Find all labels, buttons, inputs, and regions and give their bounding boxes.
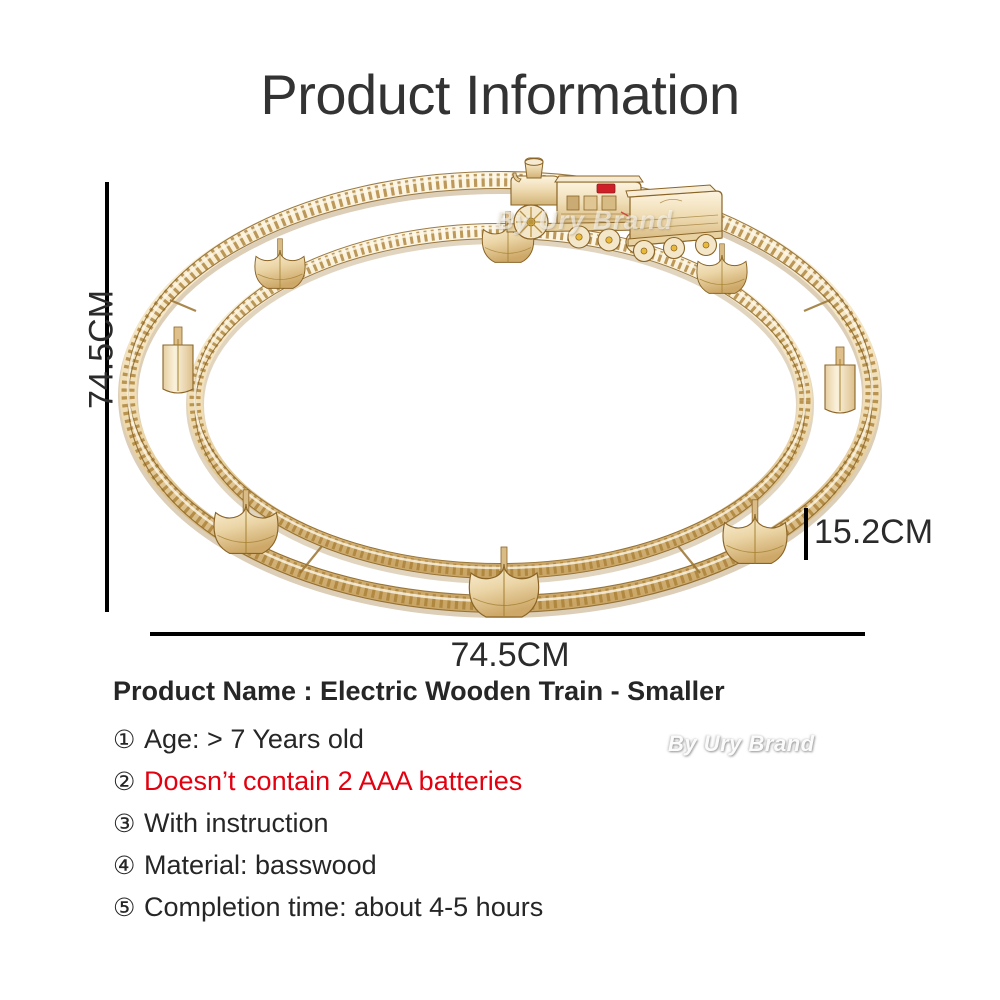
spec-item-material: ④ Material: basswood: [113, 850, 933, 881]
spec-marker-3: ③: [113, 809, 144, 839]
wooden-train-track-illustration: [0, 130, 1000, 650]
product-illustration: [0, 130, 1000, 650]
spec-item-instruction: ③ With instruction: [113, 808, 933, 839]
track-pedestal-icon: [825, 347, 855, 413]
track-pedestal-icon: [469, 547, 538, 617]
product-information-page: Product Information: [0, 0, 1000, 1000]
spec-marker-4: ④: [113, 851, 144, 881]
page-title: Product Information: [0, 62, 1000, 127]
spec-text-3: With instruction: [144, 808, 329, 839]
spec-marker-2: ②: [113, 767, 144, 797]
spec-text-2: Doesn’t contain 2 AAA batteries: [144, 766, 522, 797]
track-pedestal-icon: [255, 239, 305, 289]
spec-item-batteries: ② Doesn’t contain 2 AAA batteries: [113, 766, 933, 797]
spec-marker-1: ①: [113, 725, 144, 755]
spec-item-age: ① Age: > 7 Years old: [113, 724, 933, 755]
locomotive-icon: [507, 158, 648, 253]
spec-marker-5: ⑤: [113, 893, 144, 923]
spec-item-completion-time: ⑤ Completion time: about 4-5 hours: [113, 892, 933, 923]
depth-dimension-line: [804, 508, 808, 560]
red-lamp-detail: [597, 184, 615, 193]
depth-dimension-label: 15.2CM: [814, 513, 933, 552]
spec-text-4: Material: basswood: [144, 850, 377, 881]
tender-car-icon: [626, 185, 722, 262]
height-dimension-label: 74.5CM: [83, 280, 122, 420]
spec-text-1: Age: > 7 Years old: [144, 724, 364, 755]
track-pedestal-icon: [163, 327, 193, 393]
product-specs: Product Name : Electric Wooden Train - S…: [113, 676, 933, 934]
track-pedestal-icon: [214, 490, 278, 554]
spec-text-5: Completion time: about 4-5 hours: [144, 892, 543, 923]
product-name-line: Product Name : Electric Wooden Train - S…: [113, 676, 933, 707]
width-dimension-label: 74.5CM: [330, 636, 690, 675]
